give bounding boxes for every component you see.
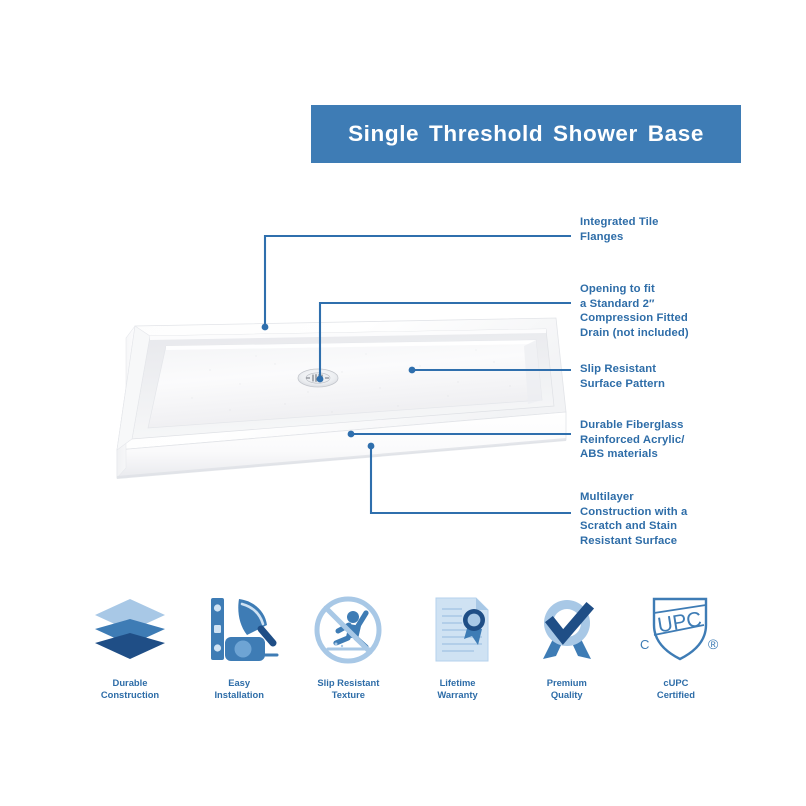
feature-label: Lifetime Warranty — [437, 677, 477, 702]
feature-label: Premium Quality — [547, 677, 587, 702]
feature-durable-construction: Durable Construction — [78, 592, 182, 702]
callout-drain-opening: Opening to fit a Standard 2″ Compression… — [580, 282, 689, 340]
certificate-ribbon-icon — [418, 592, 498, 668]
level-trowel-tape-icon — [199, 592, 279, 668]
callout-slip-resistant-surface: Slip Resistant Surface Pattern — [580, 362, 665, 391]
callout-durable-materials: Durable Fiberglass Reinforced Acrylic/ A… — [580, 418, 684, 462]
drain-grate — [298, 369, 338, 387]
feature-lifetime-warranty: Lifetime Warranty — [406, 592, 510, 702]
feature-label: Slip Resistant Texture — [317, 677, 379, 702]
feature-label: Easy Installation — [214, 677, 263, 702]
callout-integrated-tile-flanges: Integrated Tile Flanges — [580, 215, 659, 244]
page-title: Single Threshold Shower Base — [348, 121, 704, 147]
shower-base-illustration — [80, 300, 570, 480]
feature-premium-quality: Premium Quality — [515, 592, 619, 702]
feature-label: cUPC Certified — [657, 677, 695, 702]
cupc-c-mark: C — [640, 637, 649, 652]
feature-badges-row: Durable Construction — [78, 592, 728, 717]
upc-shield-icon: UPC C ® — [632, 592, 720, 668]
infographic-canvas: Single Threshold Shower Base — [0, 0, 806, 806]
check-rosette-icon — [527, 592, 607, 668]
feature-label: Durable Construction — [101, 677, 159, 702]
cupc-registered-mark: ® — [708, 636, 719, 652]
callout-multilayer-construction: Multilayer Construction with a Scratch a… — [580, 490, 687, 548]
page-title-banner: Single Threshold Shower Base — [311, 105, 741, 163]
no-slip-icon — [308, 592, 388, 668]
layers-stack-icon — [90, 592, 170, 668]
feature-cupc-certified: UPC C ® cUPC Certified — [624, 592, 728, 702]
feature-easy-installation: Easy Installation — [187, 592, 291, 702]
feature-slip-resistant-texture: Slip Resistant Texture — [296, 592, 400, 702]
